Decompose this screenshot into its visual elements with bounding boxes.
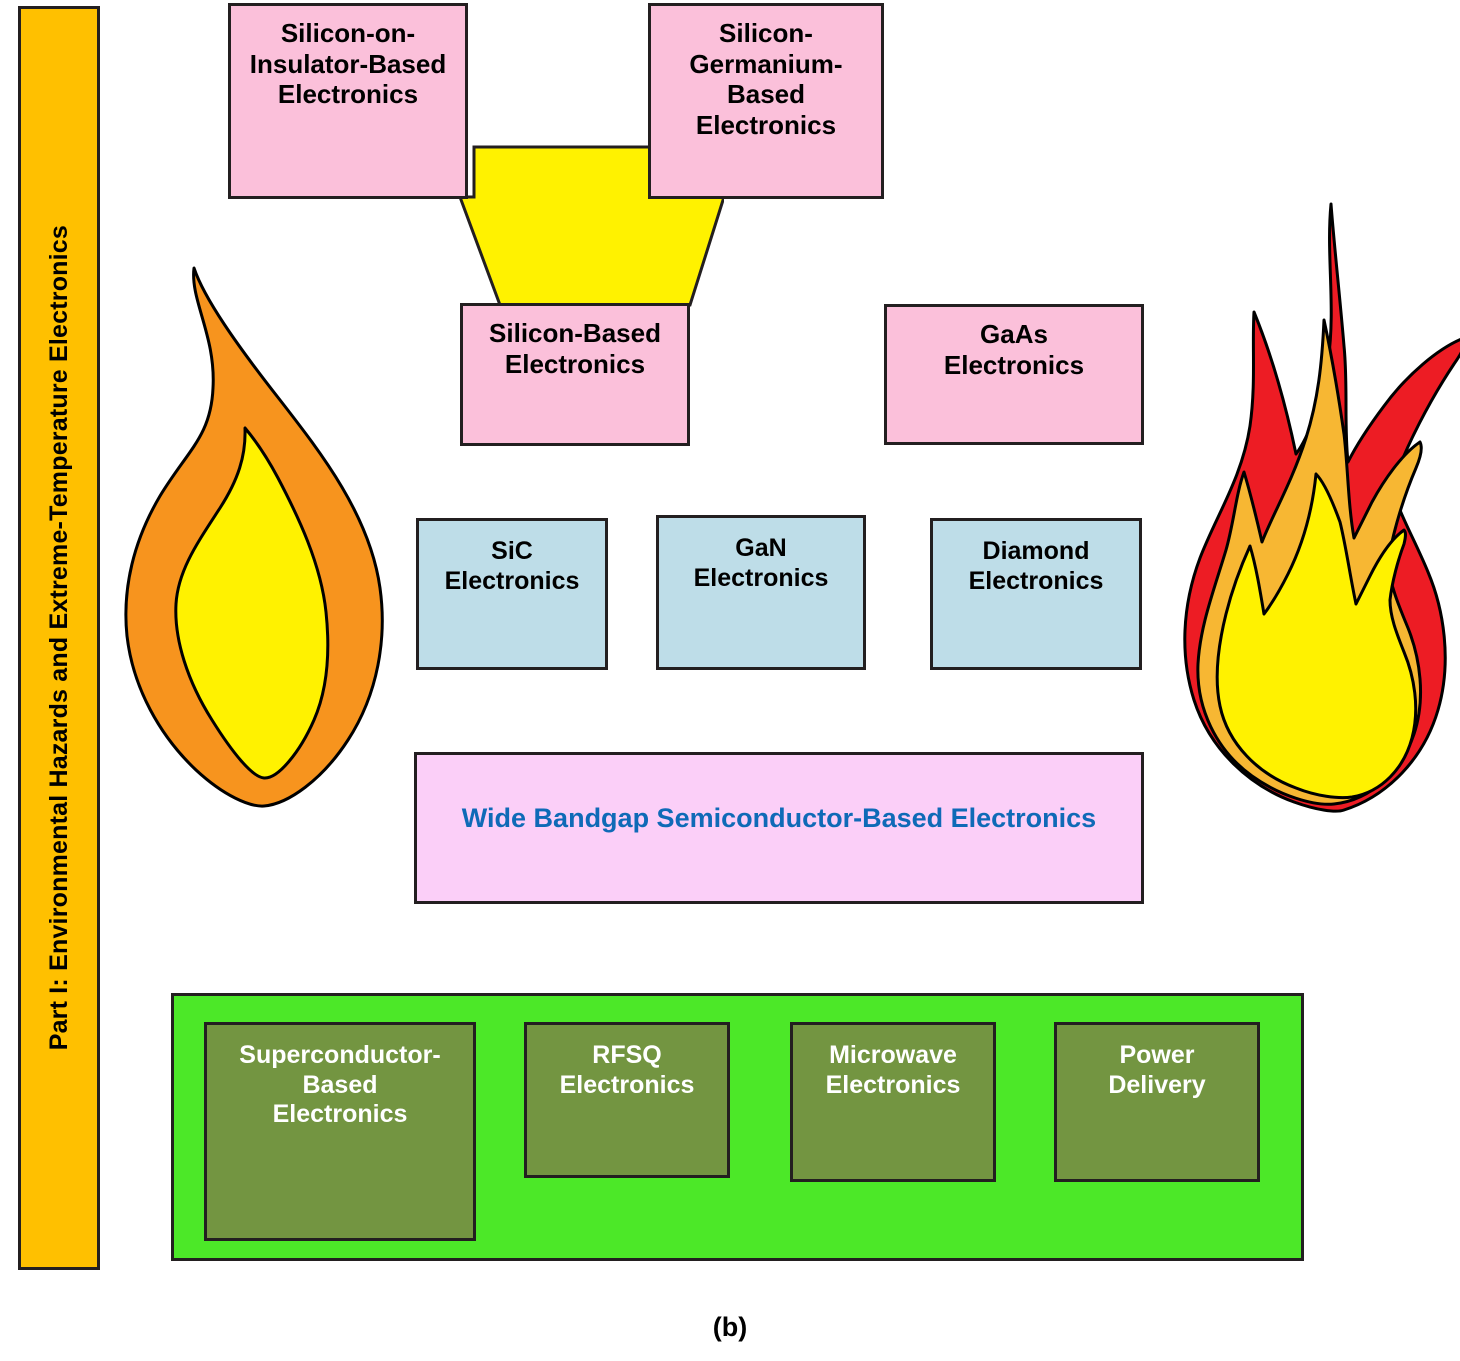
- node-rfsq[interactable]: RFSQ Electronics: [524, 1022, 730, 1178]
- node-sic-label: SiC Electronics: [419, 537, 605, 596]
- node-gaas-label: GaAs Electronics: [887, 319, 1141, 380]
- node-power-delivery-label: Power Delivery: [1057, 1041, 1257, 1100]
- node-diamond-label: Diamond Electronics: [933, 537, 1139, 596]
- node-sic[interactable]: SiC Electronics: [416, 518, 608, 670]
- part-banner: Part I: Environmental Hazards and Extrem…: [18, 6, 100, 1270]
- node-silicon-germanium[interactable]: Silicon- Germanium- Based Electronics: [648, 3, 884, 199]
- node-gan[interactable]: GaN Electronics: [656, 515, 866, 670]
- node-power-delivery[interactable]: Power Delivery: [1054, 1022, 1260, 1182]
- node-wide-bandgap-banner-label: Wide Bandgap Semiconductor-Based Electro…: [417, 803, 1141, 835]
- node-wide-bandgap-banner[interactable]: Wide Bandgap Semiconductor-Based Electro…: [414, 752, 1144, 904]
- node-silicon-on-insulator-label: Silicon-on- Insulator-Based Electronics: [231, 18, 465, 110]
- node-gaas[interactable]: GaAs Electronics: [884, 304, 1144, 445]
- node-rfsq-label: RFSQ Electronics: [527, 1041, 727, 1100]
- part-banner-label: Part I: Environmental Hazards and Extrem…: [47, 225, 72, 1050]
- node-superconductor-based-label: Superconductor- Based Electronics: [207, 1041, 473, 1130]
- node-diamond[interactable]: Diamond Electronics: [930, 518, 1142, 670]
- flame-left-icon: [112, 258, 404, 810]
- node-gan-label: GaN Electronics: [659, 534, 863, 593]
- node-microwave-label: Microwave Electronics: [793, 1041, 993, 1100]
- figure-caption: (b): [0, 1312, 1460, 1343]
- node-silicon-based[interactable]: Silicon-Based Electronics: [460, 303, 690, 446]
- flame-right-icon: [1176, 186, 1460, 814]
- node-microwave[interactable]: Microwave Electronics: [790, 1022, 996, 1182]
- node-silicon-germanium-label: Silicon- Germanium- Based Electronics: [651, 18, 881, 141]
- node-superconductor-based[interactable]: Superconductor- Based Electronics: [204, 1022, 476, 1241]
- node-silicon-on-insulator[interactable]: Silicon-on- Insulator-Based Electronics: [228, 3, 468, 199]
- figure-canvas: Part I: Environmental Hazards and Extrem…: [0, 0, 1460, 1361]
- node-silicon-based-label: Silicon-Based Electronics: [463, 318, 687, 379]
